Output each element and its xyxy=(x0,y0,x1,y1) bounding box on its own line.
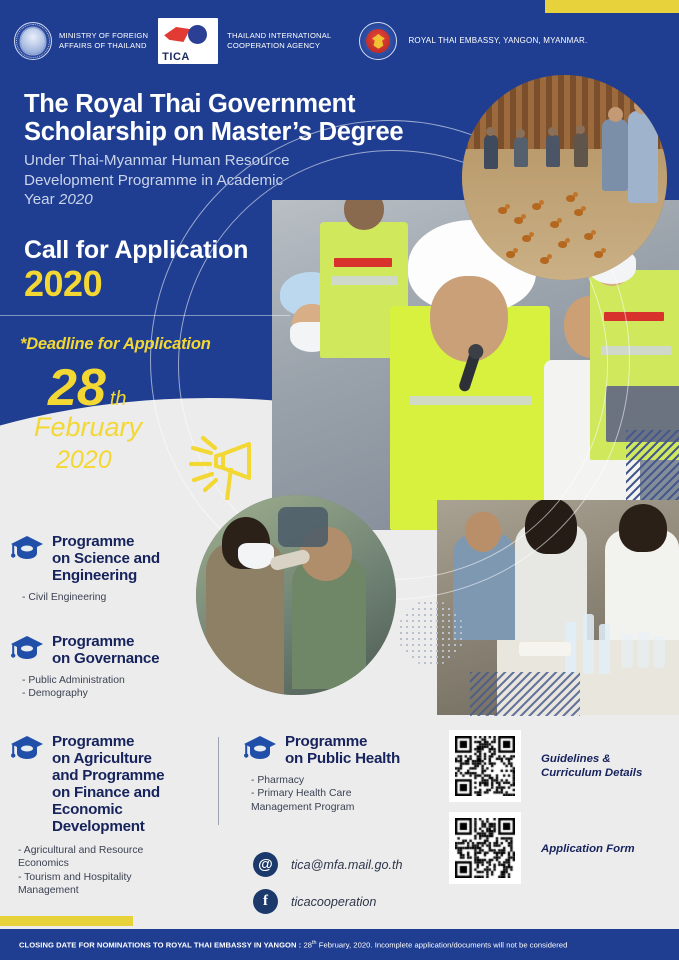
hero-title-line1: The Royal Thai Government xyxy=(24,90,464,118)
programme-title: Programme on Agriculture and Programme o… xyxy=(52,733,164,835)
diagonal-stripes-decoration xyxy=(626,430,679,500)
programme-public-health: Programme on Public Health - Pharmacy - … xyxy=(243,733,443,814)
hero-subtitle-line2: Development Programme in Academic xyxy=(24,171,464,191)
footer-date-rest: February, 2020. Incomplete application/d… xyxy=(317,940,568,949)
deadline-ordinal: th xyxy=(110,388,127,410)
thailand-ministry-seal-icon xyxy=(14,22,52,60)
hero-year-label: Year xyxy=(24,191,59,208)
deadline-block: *Deadline for Application 28th February … xyxy=(20,335,320,474)
photo-eye-care-clinic xyxy=(196,495,396,695)
diagonal-stripes-decoration-2 xyxy=(470,672,580,716)
qr-code-application-form[interactable] xyxy=(449,812,521,884)
photo-poultry-farm-visit xyxy=(462,75,667,280)
contact-facebook: ticacooperation xyxy=(291,895,376,909)
yellow-accent-bottom xyxy=(0,916,133,926)
deadline-day: 28 xyxy=(48,360,106,416)
garuda-emblem-icon xyxy=(359,22,397,60)
contact-facebook-row[interactable]: f ticacooperation xyxy=(253,889,402,914)
programme-items: - Civil Engineering xyxy=(22,591,200,604)
footer-lead: CLOSING DATE FOR NOMINATIONS TO ROYAL TH… xyxy=(19,940,303,949)
programme-agriculture-finance: Programme on Agriculture and Programme o… xyxy=(10,733,206,898)
dot-grid-decoration xyxy=(398,600,464,666)
graduation-cap-icon xyxy=(10,535,44,566)
hero-title-line2: Scholarship on Master’s Degree xyxy=(24,118,464,146)
call-for-application-block: Call for Application 2020 xyxy=(24,235,248,303)
contact-block: @ tica@mfa.mail.go.th f ticacooperation xyxy=(253,852,402,926)
qr-label-application-form: Application Form xyxy=(541,842,671,856)
vertical-divider xyxy=(218,737,219,825)
ministry-label: MINISTRY OF FOREIGN AFFAIRS OF THAILAND xyxy=(59,31,148,50)
call-heading: Call for Application xyxy=(24,235,248,265)
hero-title-block: The Royal Thai Government Scholarship on… xyxy=(24,90,464,210)
contact-email: tica@mfa.mail.go.th xyxy=(291,858,402,872)
tica-logo-icon: TICA xyxy=(158,18,218,64)
programme-science-engineering: Programme on Science and Engineering - C… xyxy=(10,533,200,604)
qr-code-icon xyxy=(455,736,515,796)
qr-code-guidelines[interactable] xyxy=(449,730,521,802)
programme-items: - Agricultural and Resource Economics - … xyxy=(18,844,206,898)
programme-title: Programme on Public Health xyxy=(285,733,400,767)
programme-title: Programme on Governance xyxy=(52,633,159,667)
programme-items: - Public Administration - Demography xyxy=(22,674,200,701)
graduation-cap-icon xyxy=(243,735,277,766)
call-year: 2020 xyxy=(24,265,248,303)
footer-bar: CLOSING DATE FOR NOMINATIONS TO ROYAL TH… xyxy=(0,929,679,960)
programme-title: Programme on Science and Engineering xyxy=(52,533,160,584)
megaphone-icon xyxy=(185,434,261,511)
horizontal-rule xyxy=(0,315,290,316)
footer-date-day: 28 xyxy=(303,940,312,949)
qr-code-icon xyxy=(455,818,515,878)
hero-subtitle-line3: Year 2020 xyxy=(24,190,464,210)
yellow-accent-top xyxy=(545,0,679,13)
logo-row: MINISTRY OF FOREIGN AFFAIRS OF THAILAND … xyxy=(0,18,679,64)
at-sign-icon: @ xyxy=(253,852,278,877)
programme-governance: Programme on Governance - Public Adminis… xyxy=(10,633,200,701)
hero-year-value: 2020 xyxy=(59,191,93,208)
hero-subtitle-line1: Under Thai-Myanmar Human Resource xyxy=(24,151,464,171)
graduation-cap-icon xyxy=(10,735,44,766)
tica-wordmark: TICA xyxy=(162,51,190,63)
deadline-label: *Deadline for Application xyxy=(20,335,320,354)
tica-label: THAILAND INTERNATIONAL COOPERATION AGENC… xyxy=(227,31,331,50)
scholarship-poster: MINISTRY OF FOREIGN AFFAIRS OF THAILAND … xyxy=(0,0,679,960)
embassy-label: ROYAL THAI EMBASSY, YANGON, MYANMAR. xyxy=(408,36,587,46)
deadline-month: February xyxy=(34,412,320,442)
graduation-cap-icon xyxy=(10,635,44,666)
contact-email-row[interactable]: @ tica@mfa.mail.go.th xyxy=(253,852,402,877)
footer-text: CLOSING DATE FOR NOMINATIONS TO ROYAL TH… xyxy=(19,940,567,950)
tica-red-shape xyxy=(164,27,190,42)
tica-blue-circle xyxy=(188,25,207,44)
programme-items: - Pharmacy - Primary Health Care Managem… xyxy=(251,774,443,814)
qr-label-guidelines: Guidelines & Curriculum Details xyxy=(541,752,671,780)
facebook-icon: f xyxy=(253,889,278,914)
